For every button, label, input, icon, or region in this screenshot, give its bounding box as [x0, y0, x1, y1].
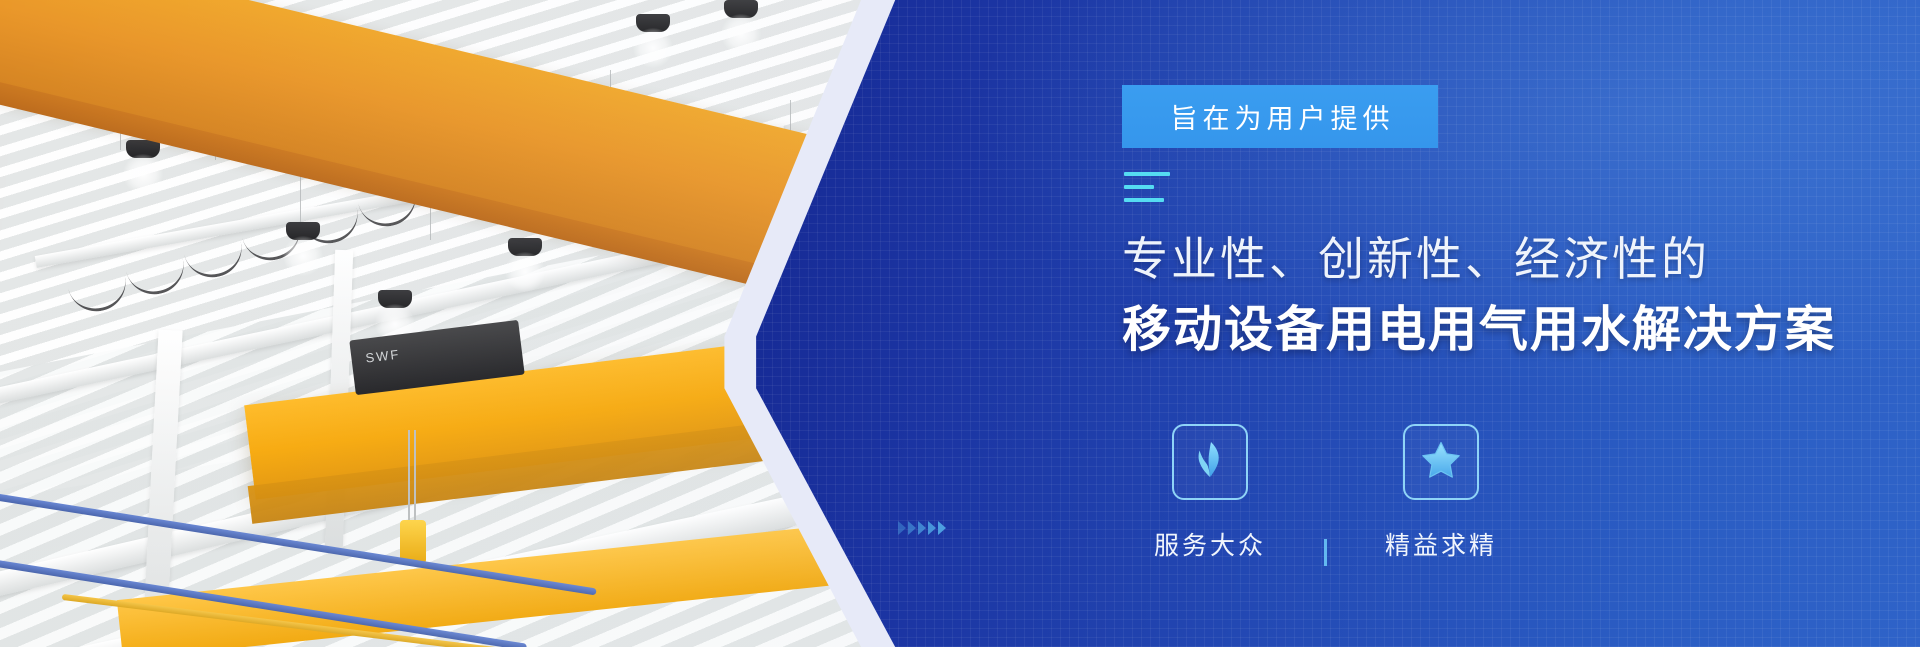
decorative-line [1124, 198, 1164, 202]
chevron-right-icon [928, 521, 936, 535]
chevron-arrows-decoration [898, 521, 946, 535]
feature-divider [1324, 539, 1327, 566]
decorative-lines [1124, 172, 1170, 211]
decorative-line [1124, 172, 1170, 176]
headline-line-1: 专业性、创新性、经济性的 [1122, 236, 1710, 282]
feature-item-excellence[interactable]: 精益求精 [1353, 424, 1529, 562]
panel-content: 旨在为用户提供 专业性、创新性、经济性的 移动设备用电用气用水解决方案 [1122, 0, 1862, 647]
hero-banner: SWF 旨在为用户提供 专业性、创新性、经济性的 移动设备用电用气用水解决方案 [0, 0, 1920, 647]
feature-item-service[interactable]: 服务大众 [1122, 424, 1298, 562]
chevron-right-icon [908, 521, 916, 535]
chevron-right-icon [918, 521, 926, 535]
leaf-icon [1189, 439, 1231, 486]
star-icon-box [1403, 424, 1479, 500]
leaf-icon-box [1172, 424, 1248, 500]
tagline-badge-label: 旨在为用户提供 [1166, 97, 1395, 136]
chevron-right-icon [898, 521, 906, 535]
headline-line-2: 移动设备用电用气用水解决方案 [1122, 306, 1836, 355]
tagline-badge: 旨在为用户提供 [1122, 85, 1438, 148]
star-icon [1420, 439, 1462, 486]
feature-label-excellence: 精益求精 [1385, 526, 1497, 562]
feature-label-service: 服务大众 [1154, 526, 1266, 562]
chevron-right-icon [938, 521, 946, 535]
feature-list: 服务大众 [1122, 424, 1529, 566]
decorative-line [1124, 185, 1154, 189]
